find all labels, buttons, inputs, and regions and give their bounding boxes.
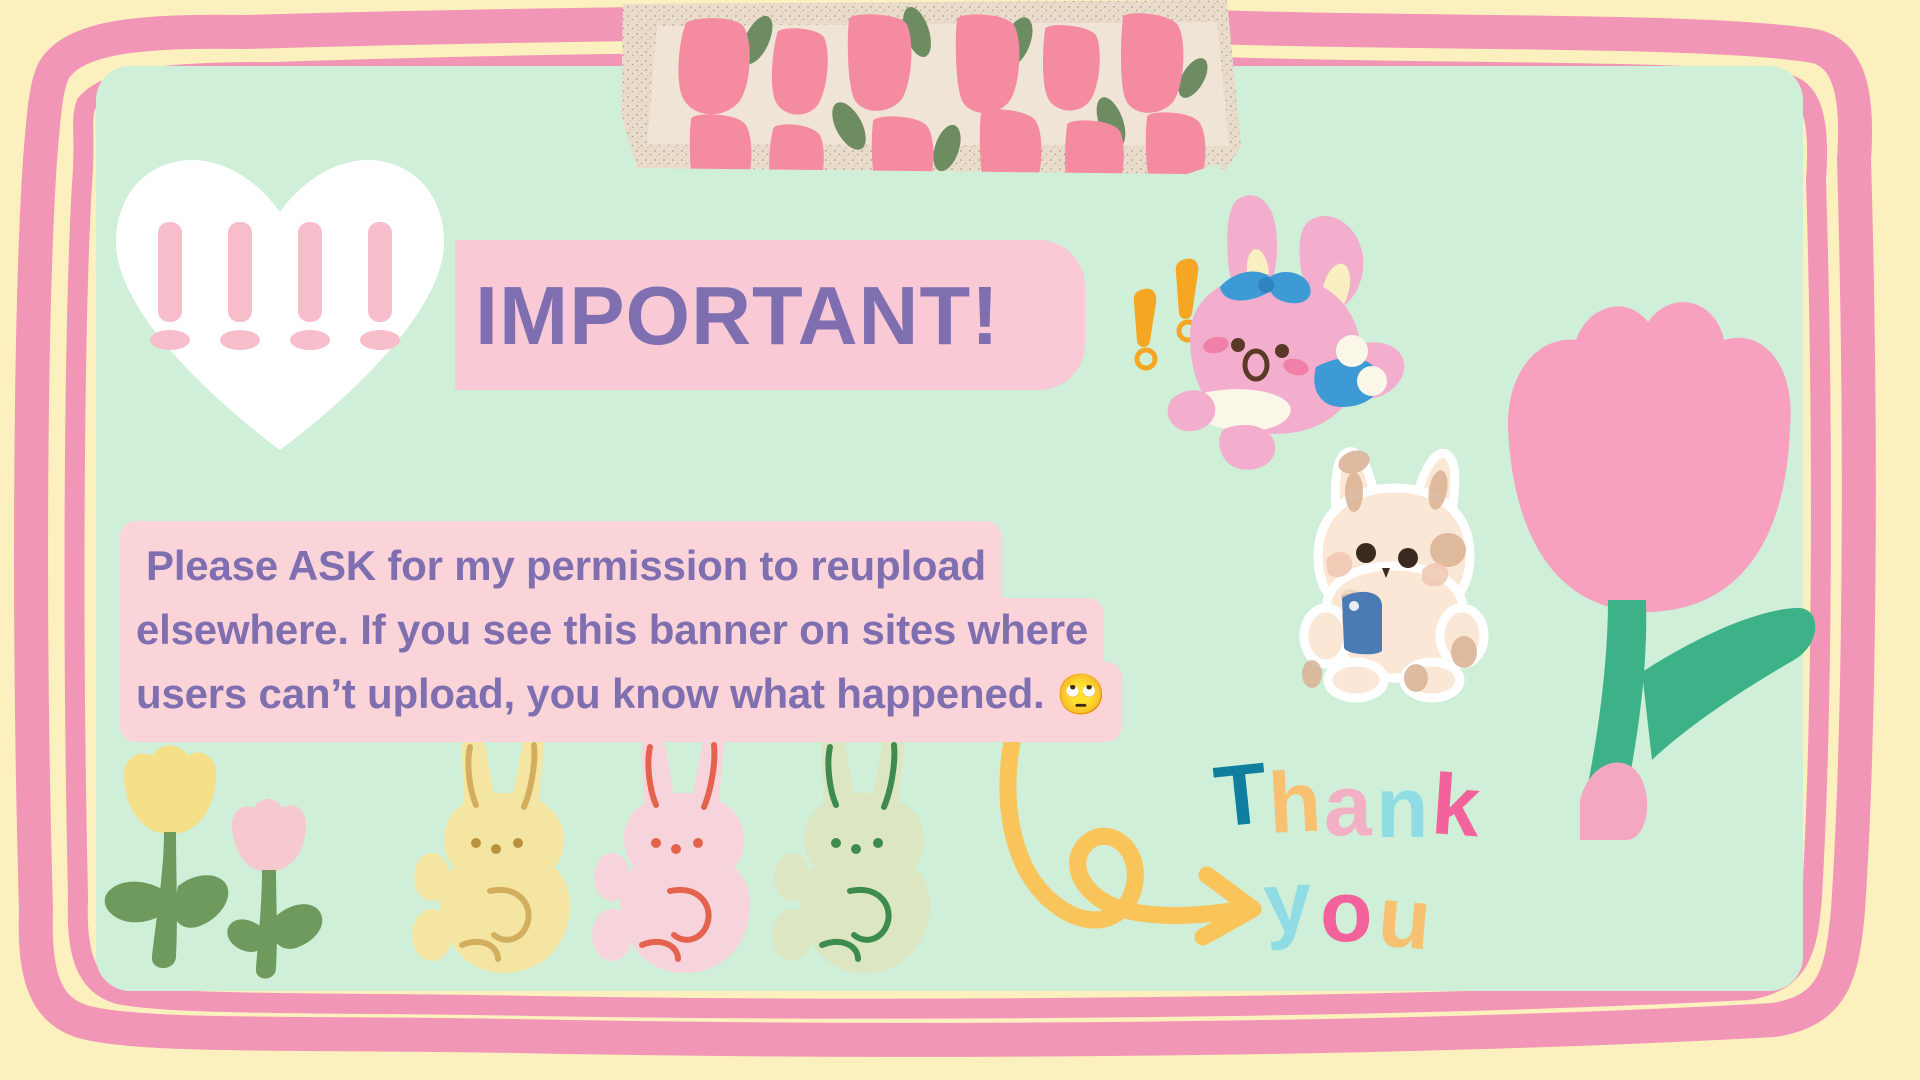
message-line-1: Please ASK for my permission to reupload bbox=[120, 521, 1002, 598]
thankyou-letter-n: n bbox=[1376, 760, 1429, 856]
thankyou-letter-h: h bbox=[1266, 753, 1323, 852]
message-line-3: users can’t upload, you know what happen… bbox=[120, 662, 1122, 742]
thankyou-letter-k: k bbox=[1429, 756, 1484, 855]
thank-you-lettering: T h a n k y o u bbox=[1218, 755, 1518, 960]
exclamation-marks-icon bbox=[1134, 259, 1199, 368]
thankyou-letter-u: u bbox=[1374, 868, 1435, 968]
washi-tape-tulips-sticker bbox=[617, 0, 1247, 211]
message-line-2: elsewhere. If you see this banner on sit… bbox=[120, 598, 1104, 662]
page-title: IMPORTANT! bbox=[475, 274, 1000, 357]
thankyou-letter-y: y bbox=[1261, 853, 1316, 952]
thankyou-letter-o: o bbox=[1320, 864, 1373, 960]
rolling-eyes-emoji: 🙄 bbox=[1056, 673, 1106, 717]
sitting-bunny-phone-sticker bbox=[1282, 440, 1507, 700]
message-line-3-text: users can’t upload, you know what happen… bbox=[136, 670, 1056, 717]
thankyou-letter-T: T bbox=[1210, 745, 1272, 846]
important-heading-band: IMPORTANT! bbox=[455, 240, 1085, 390]
thankyou-letter-a: a bbox=[1324, 758, 1373, 854]
small-tulips-sticker bbox=[96, 740, 356, 990]
banner-message: Please ASK for my permission to reupload… bbox=[120, 521, 1122, 742]
white-heart-exclamations-sticker bbox=[100, 150, 460, 450]
bunny-cookies-sticker bbox=[398, 735, 958, 995]
